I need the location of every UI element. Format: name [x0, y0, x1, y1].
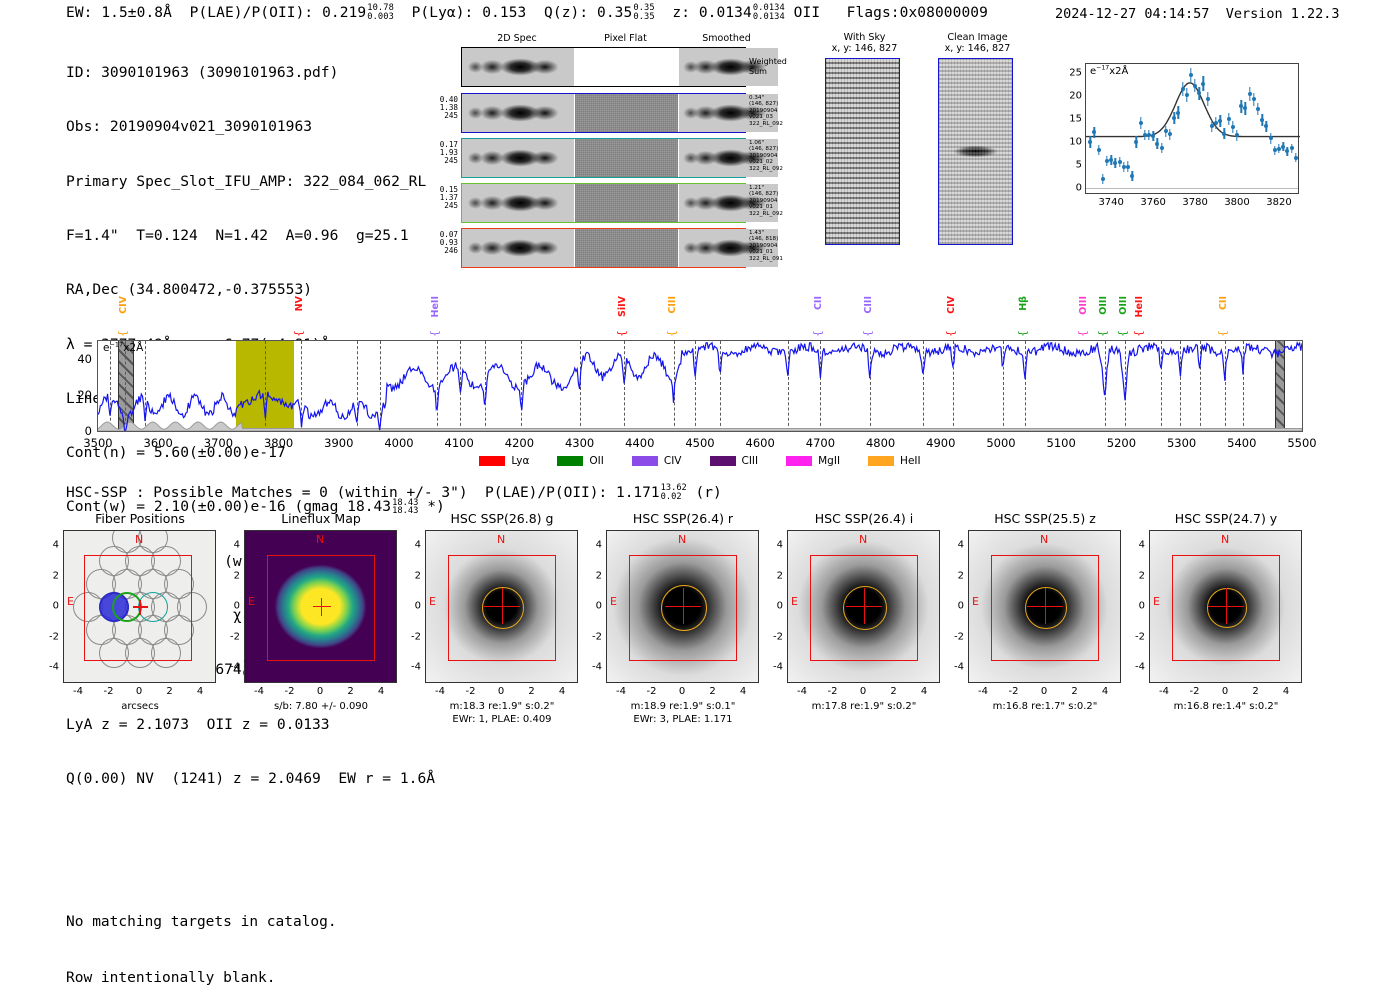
panel-5-y-tick-4: -4 — [942, 662, 964, 673]
fit-y-tick-0: 0 — [1076, 183, 1082, 194]
panel-4-x-tick-2: 0 — [848, 686, 878, 697]
spectrum-line-bracket-10: { — [1096, 330, 1109, 337]
panel-6-y-tick-4: -4 — [1123, 662, 1145, 673]
panel-3-x-tick-2: 0 — [667, 686, 697, 697]
panel-4-y-tick-1: 2 — [761, 570, 783, 581]
fit-data-point-42 — [1264, 124, 1268, 128]
panel-3-x-tick-0: -4 — [606, 686, 636, 697]
spec2d-row-stats-1: 0.401.38245 — [432, 96, 458, 121]
panel-6-x-tick-2: 0 — [1210, 686, 1240, 697]
spectrum-legend-item-4: MgII — [786, 455, 840, 468]
panel-north-label-1: N — [316, 533, 324, 546]
panel-east-label-1: E — [248, 595, 255, 608]
spectrum-line-label-heii-12: HeII — [1134, 296, 1145, 317]
panel-east-label-3: E — [610, 595, 617, 608]
header-z: z: 0.0134 — [672, 5, 751, 21]
fit-data-point-32 — [1222, 132, 1226, 136]
spec2d-cell-2dspec-3 — [462, 184, 574, 222]
fit-data-point-41 — [1260, 118, 1264, 122]
spectrum-line-bracket-1: { — [292, 330, 305, 337]
panel-2-x-tick-4: 4 — [547, 686, 577, 697]
panel-4-y-tick-0: 4 — [761, 540, 783, 551]
fit-data-point-17 — [1160, 146, 1164, 150]
spectrum-line-bracket-12: { — [1132, 330, 1145, 337]
timestamp: 2024-12-27 04:14:57 — [1055, 6, 1209, 22]
fit-x-tick-3760: 3760 — [1140, 197, 1165, 208]
info-seeing: F=1.4" T=0.124 N=1.42 A=0.96 g=25.1 — [66, 227, 445, 245]
fit-x-tick-3780: 3780 — [1182, 197, 1207, 208]
panel-1-y-tick-3: -2 — [218, 631, 240, 642]
panel-4-x-tick-1: -2 — [818, 686, 848, 697]
crosshair-v-1 — [321, 598, 322, 616]
panel-north-label-3: N — [678, 533, 686, 546]
fit-data-point-38 — [1248, 92, 1252, 96]
fit-y-tick-20: 20 — [1069, 91, 1082, 102]
spectrum-line-bracket-5: { — [811, 330, 824, 337]
fit-data-point-26 — [1197, 91, 1201, 95]
panel-4-y-tick-3: -2 — [761, 631, 783, 642]
fit-x-tick-3740: 3740 — [1098, 197, 1123, 208]
fit-data-point-28 — [1206, 97, 1210, 101]
fit-data-point-16 — [1155, 142, 1159, 146]
spectrum-line-label-oiii-9: OIII — [1078, 296, 1089, 315]
spectrum-line-label-ciii-4: CIII — [667, 296, 678, 314]
panel-6-x-tick-3: 2 — [1241, 686, 1271, 697]
panel-north-label-6: N — [1221, 533, 1229, 546]
spectrum-line-bracket-8: { — [1016, 330, 1029, 337]
panel-3-y-tick-1: 2 — [580, 570, 602, 581]
spectrum-x-tick-5500: 5500 — [1287, 436, 1316, 450]
header-summary-line: EW: 1.5±0.8Å P(LAE)/P(OII): 0.21910.780.… — [66, 4, 988, 22]
spec2d-cell-2dspec-1 — [462, 94, 574, 132]
spectrum-line-bracket-6: { — [861, 330, 874, 337]
panel-north-label-5: N — [1040, 533, 1048, 546]
spectrum-x-tick-4000: 4000 — [384, 436, 413, 450]
spec2d-row-0 — [461, 47, 746, 87]
spec2d-row-meta-3: 1.21"(146, 827)20190904v021_01322_RL_092 — [749, 185, 809, 217]
legend-swatch-5 — [868, 456, 894, 466]
spectrum-line-bracket-13: { — [1216, 330, 1229, 337]
spectrum-x-tick-4400: 4400 — [625, 436, 654, 450]
cutout-coords-0: x, y: 146, 827 — [807, 43, 922, 54]
spectrum-x-tick-5100: 5100 — [1047, 436, 1076, 450]
fit-data-point-24 — [1189, 73, 1193, 77]
fit-data-point-33 — [1227, 117, 1231, 121]
panel-3-x-tick-3: 2 — [698, 686, 728, 697]
header-z-species: OII — [794, 5, 821, 21]
spectrum-line-bracket-4: { — [665, 330, 678, 337]
spec2d-cell-pixelflat-3 — [575, 184, 678, 222]
fit-y-tick-5: 5 — [1076, 160, 1082, 171]
spectrum-line-label-ciii-6: CIII — [863, 296, 874, 314]
panel-5-x-tick-2: 0 — [1029, 686, 1059, 697]
spectrum-legend-item-0: Lyα — [479, 455, 529, 468]
panel-6-x-tick-4: 4 — [1271, 686, 1301, 697]
fit-data-point-29 — [1210, 124, 1214, 128]
info-redshifts: LyA z = 2.1073 OII z = 0.0133 — [66, 716, 445, 734]
spectrum-x-tick-5300: 5300 — [1167, 436, 1196, 450]
spec2d-cell-pixelflat-1 — [575, 94, 678, 132]
info-primary-spec: Primary Spec_Slot_IFU_AMP: 322_084_062_R… — [66, 173, 445, 191]
panel-3-x-tick-1: -2 — [637, 686, 667, 697]
panel-4-x-tick-3: 2 — [879, 686, 909, 697]
panel-2-y-tick-3: -2 — [399, 631, 421, 642]
footer-line-1: No matching targets in catalog. — [66, 913, 337, 932]
panel-0-y-tick-3: -2 — [37, 631, 59, 642]
panel-east-label-2: E — [429, 595, 436, 608]
spectrum-x-tick-3500: 3500 — [83, 436, 112, 450]
panel-title-2: HSC SSP(26.8) g — [412, 511, 592, 526]
spectrum-line-bracket-9: { — [1076, 330, 1089, 337]
panel-1-x-tick-4: 4 — [366, 686, 396, 697]
fit-data-point-12 — [1139, 121, 1143, 125]
panel-3-image — [606, 530, 759, 683]
spectrum-line-label-cii-13: CII — [1218, 296, 1229, 310]
panel-0-x-tick-0: -4 — [63, 686, 93, 697]
legend-swatch-3 — [710, 456, 736, 466]
cutout-name-1: Clean Image — [920, 32, 1035, 43]
fit-data-point-40 — [1256, 107, 1260, 111]
spectrum-x-tick-3700: 3700 — [204, 436, 233, 450]
two-d-spectrum-panel: 2D SpecPixel FlatSmoothed0.401.382450.34… — [432, 33, 772, 248]
legend-label-3: CIII — [742, 455, 759, 467]
fit-data-point-1 — [1092, 130, 1096, 134]
spectrum-units-annotation: e−17x2Å — [103, 342, 143, 354]
spec2d-row-stats-2: 0.171.93245 — [432, 141, 458, 166]
header-qz-range: 0.350.35 — [633, 4, 654, 22]
panel-2-y-tick-4: -4 — [399, 662, 421, 673]
spectrum-x-tick-4500: 4500 — [685, 436, 714, 450]
info-id: ID: 3090101963 (3090101963.pdf) — [66, 64, 445, 82]
full-spectrum-chart: e−17x2Å 02040350036003700380039004000410… — [97, 340, 1303, 432]
panel-5-y-tick-1: 2 — [942, 570, 964, 581]
spec2d-row-stats-3: 0.151.37245 — [432, 186, 458, 211]
header-flags: Flags:0x08000009 — [847, 5, 988, 21]
footer-note: No matching targets in catalog. Row inte… — [66, 876, 337, 1006]
panel-1-y-tick-0: 4 — [218, 540, 240, 551]
panel-caption-line2-3: EWr: 3, PLAE: 1.171 — [573, 713, 793, 726]
spectrum-x-tick-3900: 3900 — [324, 436, 353, 450]
panel-north-label-2: N — [497, 533, 505, 546]
fit-data-point-34 — [1231, 125, 1235, 129]
fit-data-point-22 — [1181, 87, 1185, 91]
fit-data-point-3 — [1101, 177, 1105, 181]
fit-data-point-49 — [1294, 156, 1298, 160]
panel-3-y-tick-0: 4 — [580, 540, 602, 551]
info-qline: Q(0.00) NV (1241) z = 2.0469 EW r = 1.6Å — [66, 770, 445, 788]
fit-y-tick-25: 25 — [1069, 68, 1082, 79]
legend-swatch-2 — [632, 456, 658, 466]
fit-data-point-9 — [1126, 165, 1130, 169]
info-obs: Obs: 20190904v021_3090101963 — [66, 118, 445, 136]
panel-title-5: HSC SSP(25.5) z — [955, 511, 1135, 526]
panel-0-y-tick-4: -4 — [37, 662, 59, 673]
panel-4-x-tick-0: -4 — [787, 686, 817, 697]
fit-data-point-11 — [1134, 140, 1138, 144]
spectrum-line-label-oiii-11: OIII — [1118, 296, 1129, 315]
panel-5-y-tick-3: -2 — [942, 631, 964, 642]
panel-3-y-tick-4: -4 — [580, 662, 602, 673]
panel-0-y-tick-0: 4 — [37, 540, 59, 551]
panel-6-image — [1149, 530, 1302, 683]
panel-title-1: Lineflux Map — [231, 511, 411, 526]
panel-3-y-tick-3: -2 — [580, 631, 602, 642]
hsc-plae-range: 13.620.02 — [661, 484, 687, 502]
panel-1-x-tick-2: 0 — [305, 686, 335, 697]
panel-6-y-tick-2: 0 — [1123, 601, 1145, 612]
fit-data-point-43 — [1269, 136, 1273, 140]
panel-4-y-tick-2: 0 — [761, 601, 783, 612]
panel-6-x-tick-0: -4 — [1149, 686, 1179, 697]
spec2d-column-title-2: Smoothed — [677, 33, 776, 44]
spectrum-legend: LyαOIICIVCIIIMgIIHeII — [0, 455, 1400, 468]
fit-data-point-27 — [1201, 82, 1205, 86]
panel-5-x-tick-3: 2 — [1060, 686, 1090, 697]
panel-0-fibers — [63, 530, 216, 683]
spec2d-cell-pixelflat-4 — [575, 229, 678, 267]
panel-5-x-tick-1: -2 — [999, 686, 1029, 697]
fit-data-point-21 — [1176, 111, 1180, 115]
spectrum-line-bracket-3: { — [615, 330, 628, 337]
header-plae-poii-range: 10.780.003 — [367, 4, 394, 22]
spectrum-line-bracket-2: { — [428, 330, 441, 337]
spectrum-x-tick-4900: 4900 — [926, 436, 955, 450]
fit-data-point-15 — [1151, 134, 1155, 138]
panel-1-y-tick-1: 2 — [218, 570, 240, 581]
panel-2-x-tick-1: -2 — [456, 686, 486, 697]
cutout-title-1: Clean Imagex, y: 146, 827 — [920, 32, 1035, 54]
panel-2-x-tick-2: 0 — [486, 686, 516, 697]
panel-6-y-tick-1: 2 — [1123, 570, 1145, 581]
spec2d-row-3 — [461, 183, 746, 223]
panel-6-x-tick-1: -2 — [1180, 686, 1210, 697]
spectrum-line-bracket-7: { — [944, 330, 957, 337]
crosshair-v-6 — [1226, 588, 1227, 624]
crosshair-v-0 — [139, 600, 140, 615]
fit-data-point-2 — [1097, 148, 1101, 152]
hsc-ssp-match-line: HSC-SSP : Possible Matches = 0 (within +… — [66, 484, 722, 502]
panel-6-y-tick-3: -2 — [1123, 631, 1145, 642]
spec2d-cell-pixelflat-2 — [575, 139, 678, 177]
fit-y-tick-10: 10 — [1069, 137, 1082, 148]
spectrum-line-label-nv-1: NV — [294, 296, 305, 311]
fit-data-point-35 — [1235, 133, 1239, 137]
spectrum-line-label-hβ-8: Hβ — [1018, 296, 1029, 311]
panel-caption-line1-6: m:16.8 re:1.4" s:0.2" — [1116, 700, 1336, 713]
spec2d-row-meta-1: 0.34"(146, 827)20190904v021_03322_RL_092 — [749, 95, 809, 127]
spec2d-row-1 — [461, 93, 746, 133]
panel-1-y-tick-4: -4 — [218, 662, 240, 673]
spectrum-x-tick-4200: 4200 — [505, 436, 534, 450]
cutout-title-0: With Skyx, y: 146, 827 — [807, 32, 922, 54]
panel-5-y-tick-2: 0 — [942, 601, 964, 612]
panel-north-label-4: N — [859, 533, 867, 546]
panel-3-y-tick-2: 0 — [580, 601, 602, 612]
panel-title-3: HSC SSP(26.4) r — [593, 511, 773, 526]
fit-data-point-25 — [1193, 84, 1197, 88]
panel-2-y-tick-2: 0 — [399, 601, 421, 612]
panel-1-x-tick-0: -4 — [244, 686, 274, 697]
version-label: Version 1.22.3 — [1226, 6, 1340, 22]
spectrum-legend-item-2: CIV — [632, 455, 682, 468]
fit-plot-area: e−17x2Å 051015202537403760378038003820 — [1085, 63, 1299, 194]
spec2d-column-title-0: 2D Spec — [461, 33, 573, 44]
panel-4-image — [787, 530, 940, 683]
spectrum-x-tick-5000: 5000 — [986, 436, 1015, 450]
panel-north-label-0: N — [135, 533, 143, 546]
header-plya: P(Lyα): 0.153 — [412, 5, 527, 21]
spec2d-column-title-1: Pixel Flat — [574, 33, 677, 44]
spectrum-x-tick-4300: 4300 — [565, 436, 594, 450]
header-plae-poii: P(LAE)/P(OII): 0.219 — [190, 5, 367, 21]
crosshair-v-4 — [864, 588, 865, 624]
panel-0-x-tick-2: 0 — [124, 686, 154, 697]
spectrum-x-tick-5200: 5200 — [1107, 436, 1136, 450]
fit-x-tick-3800: 3800 — [1224, 197, 1249, 208]
spectrum-line-label-oiii-10: OIII — [1098, 296, 1109, 315]
panel-east-label-5: E — [972, 595, 979, 608]
cutout-image-0 — [825, 58, 900, 245]
legend-swatch-1 — [557, 456, 583, 466]
spectrum-line-bracket-11: { — [1116, 330, 1129, 337]
spectrum-legend-item-1: OII — [557, 455, 603, 468]
legend-label-5: HeII — [900, 455, 921, 467]
header-timestamp-version: 2024-12-27 04:14:57 Version 1.22.3 — [1055, 6, 1340, 22]
legend-label-4: MgII — [818, 455, 840, 467]
crosshair-v-3 — [683, 588, 684, 624]
panel-5-image — [968, 530, 1121, 683]
spectrum-x-tick-4700: 4700 — [806, 436, 835, 450]
spec2d-cell-2dspec-2 — [462, 139, 574, 177]
legend-swatch-4 — [786, 456, 812, 466]
cutout-image-1 — [938, 58, 1013, 245]
cutout-pixels-0 — [826, 59, 899, 244]
spectrum-x-tick-3800: 3800 — [264, 436, 293, 450]
panel-2-image — [425, 530, 578, 683]
spectrum-y-tick-40: 40 — [77, 352, 92, 366]
fit-data-point-0 — [1088, 140, 1092, 144]
spectrum-x-tick-3600: 3600 — [144, 436, 173, 450]
panel-0-x-tick-3: 2 — [155, 686, 185, 697]
fit-data-point-46 — [1281, 145, 1285, 149]
panel-title-6: HSC SSP(24.7) y — [1136, 511, 1316, 526]
header-z-range: 0.01340.0134 — [753, 4, 785, 22]
fit-data-point-37 — [1243, 106, 1247, 110]
header-qz: Q(z): 0.35 — [544, 5, 632, 21]
spec2d-row-meta-4: 1.43"(146, 818)20190904v021_01322_RL_091 — [749, 230, 809, 262]
spectrum-line-label-siiv-3: SiIV — [617, 296, 628, 317]
panel-0-y-tick-1: 2 — [37, 570, 59, 581]
spectrum-legend-item-5: HeII — [868, 455, 921, 468]
fit-x-tick-3820: 3820 — [1266, 197, 1291, 208]
legend-swatch-0 — [479, 456, 505, 466]
spectrum-x-tick-5400: 5400 — [1227, 436, 1256, 450]
panel-5-y-tick-0: 4 — [942, 540, 964, 551]
spec2d-cell-2dspec-0 — [462, 48, 574, 86]
fit-data-point-31 — [1218, 119, 1222, 123]
panel-5-x-tick-0: -4 — [968, 686, 998, 697]
cutout-coords-1: x, y: 146, 827 — [920, 43, 1035, 54]
crosshair-v-5 — [1045, 588, 1046, 624]
spec2d-row-2 — [461, 138, 746, 178]
fit-data-point-19 — [1168, 132, 1172, 136]
cutout-pixels-1 — [939, 59, 1012, 244]
panel-3-x-tick-4: 4 — [728, 686, 758, 697]
panel-4-x-tick-4: 4 — [909, 686, 939, 697]
fit-data-point-10 — [1130, 174, 1134, 178]
spectrum-line-label-heii-2: HeII — [430, 296, 441, 317]
panel-0-y-tick-2: 0 — [37, 601, 59, 612]
spectrum-line-bracket-0: { — [116, 330, 129, 337]
panel-east-label-0: E — [67, 595, 74, 608]
crosshair-v-2 — [502, 588, 503, 624]
panel-2-x-tick-0: -4 — [425, 686, 455, 697]
cutout-name-0: With Sky — [807, 32, 922, 43]
fit-data-point-23 — [1185, 93, 1189, 97]
panel-5-x-tick-4: 4 — [1090, 686, 1120, 697]
fit-data-point-20 — [1172, 116, 1176, 120]
spectrum-x-tick-4600: 4600 — [746, 436, 775, 450]
panel-0-x-tick-1: -2 — [94, 686, 124, 697]
emission-line-fit-chart: e−17x2Å 051015202537403760378038003820 — [1040, 55, 1305, 220]
legend-label-2: CIV — [664, 455, 682, 467]
fit-data-point-7 — [1118, 160, 1122, 164]
panel-redbox-0 — [84, 555, 192, 661]
spectrum-line-label-cii-5: CII — [813, 296, 824, 310]
panel-2-y-tick-0: 4 — [399, 540, 421, 551]
fit-data-point-47 — [1285, 149, 1289, 153]
spectrum-line-label-civ-0: CIV — [118, 296, 129, 314]
spectrum-trace — [98, 341, 1302, 431]
panel-6-y-tick-0: 4 — [1123, 540, 1145, 551]
spectrum-line-label-civ-7: CIV — [946, 296, 957, 314]
panel-2-y-tick-1: 2 — [399, 570, 421, 581]
spec2d-cell-2dspec-4 — [462, 229, 574, 267]
header-ew: EW: 1.5±0.8Å — [66, 5, 172, 21]
fit-y-tick-15: 15 — [1069, 114, 1082, 125]
spectrum-legend-item-3: CIII — [710, 455, 759, 468]
panel-caption-6: m:16.8 re:1.4" s:0.2" — [1116, 700, 1336, 713]
panel-east-label-6: E — [1153, 595, 1160, 608]
panel-1-x-tick-1: -2 — [275, 686, 305, 697]
spec2d-row-stats-4: 0.070.93246 — [432, 231, 458, 256]
legend-label-1: OII — [589, 455, 603, 467]
panel-4-y-tick-4: -4 — [761, 662, 783, 673]
panel-title-4: HSC SSP(26.4) i — [774, 511, 954, 526]
spectrum-x-tick-4100: 4100 — [445, 436, 474, 450]
spec2d-cell-pixelflat-0 — [575, 48, 678, 86]
spectrum-x-tick-4800: 4800 — [866, 436, 895, 450]
spec2d-weighted-sum-label: WeightedSum — [749, 57, 809, 76]
spectrum-y-tick-20: 20 — [77, 388, 92, 402]
fit-data-point-48 — [1290, 146, 1294, 150]
panel-1-y-tick-2: 0 — [218, 601, 240, 612]
panel-1-x-tick-3: 2 — [336, 686, 366, 697]
legend-label-0: Lyα — [511, 455, 529, 467]
panel-east-label-4: E — [791, 595, 798, 608]
panel-2-x-tick-3: 2 — [517, 686, 547, 697]
panel-0-x-tick-4: 4 — [185, 686, 215, 697]
fit-data-point-39 — [1252, 97, 1256, 101]
spec2d-row-4 — [461, 228, 746, 268]
panel-1-lineflux — [244, 530, 397, 683]
panel-title-0: Fiber Positions — [50, 511, 230, 526]
spec2d-row-meta-2: 1.06"(146, 827)20190904v021_02322_RL_092 — [749, 140, 809, 172]
footer-line-2: Row intentionally blank. — [66, 969, 337, 988]
